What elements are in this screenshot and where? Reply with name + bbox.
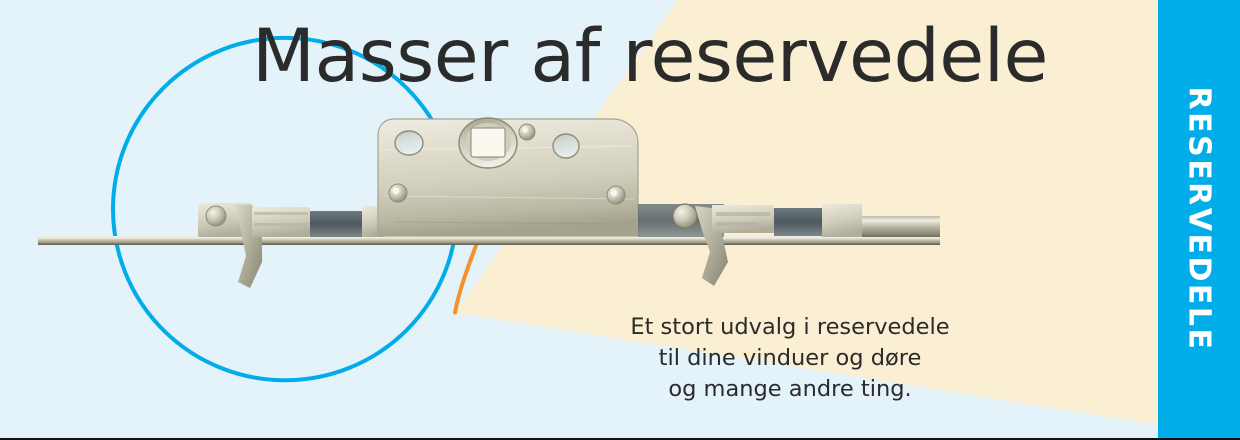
page-title: Masser af reservedele: [252, 14, 1048, 99]
body-copy-line-2: til dine vinduer og døre: [596, 343, 984, 374]
body-copy-line-3: og mange andre ting.: [596, 374, 984, 405]
side-tab-label: RESERVEDELE: [1182, 86, 1217, 351]
body-copy-line-1: Et stort udvalg i reservedele: [596, 312, 984, 343]
body-copy: Et stort udvalg i reservedele til dine v…: [596, 312, 984, 405]
side-tab-reservedele[interactable]: RESERVEDELE: [1158, 0, 1240, 438]
promo-banner: Masser af reservedele Et stort udvalg i …: [0, 0, 1240, 440]
